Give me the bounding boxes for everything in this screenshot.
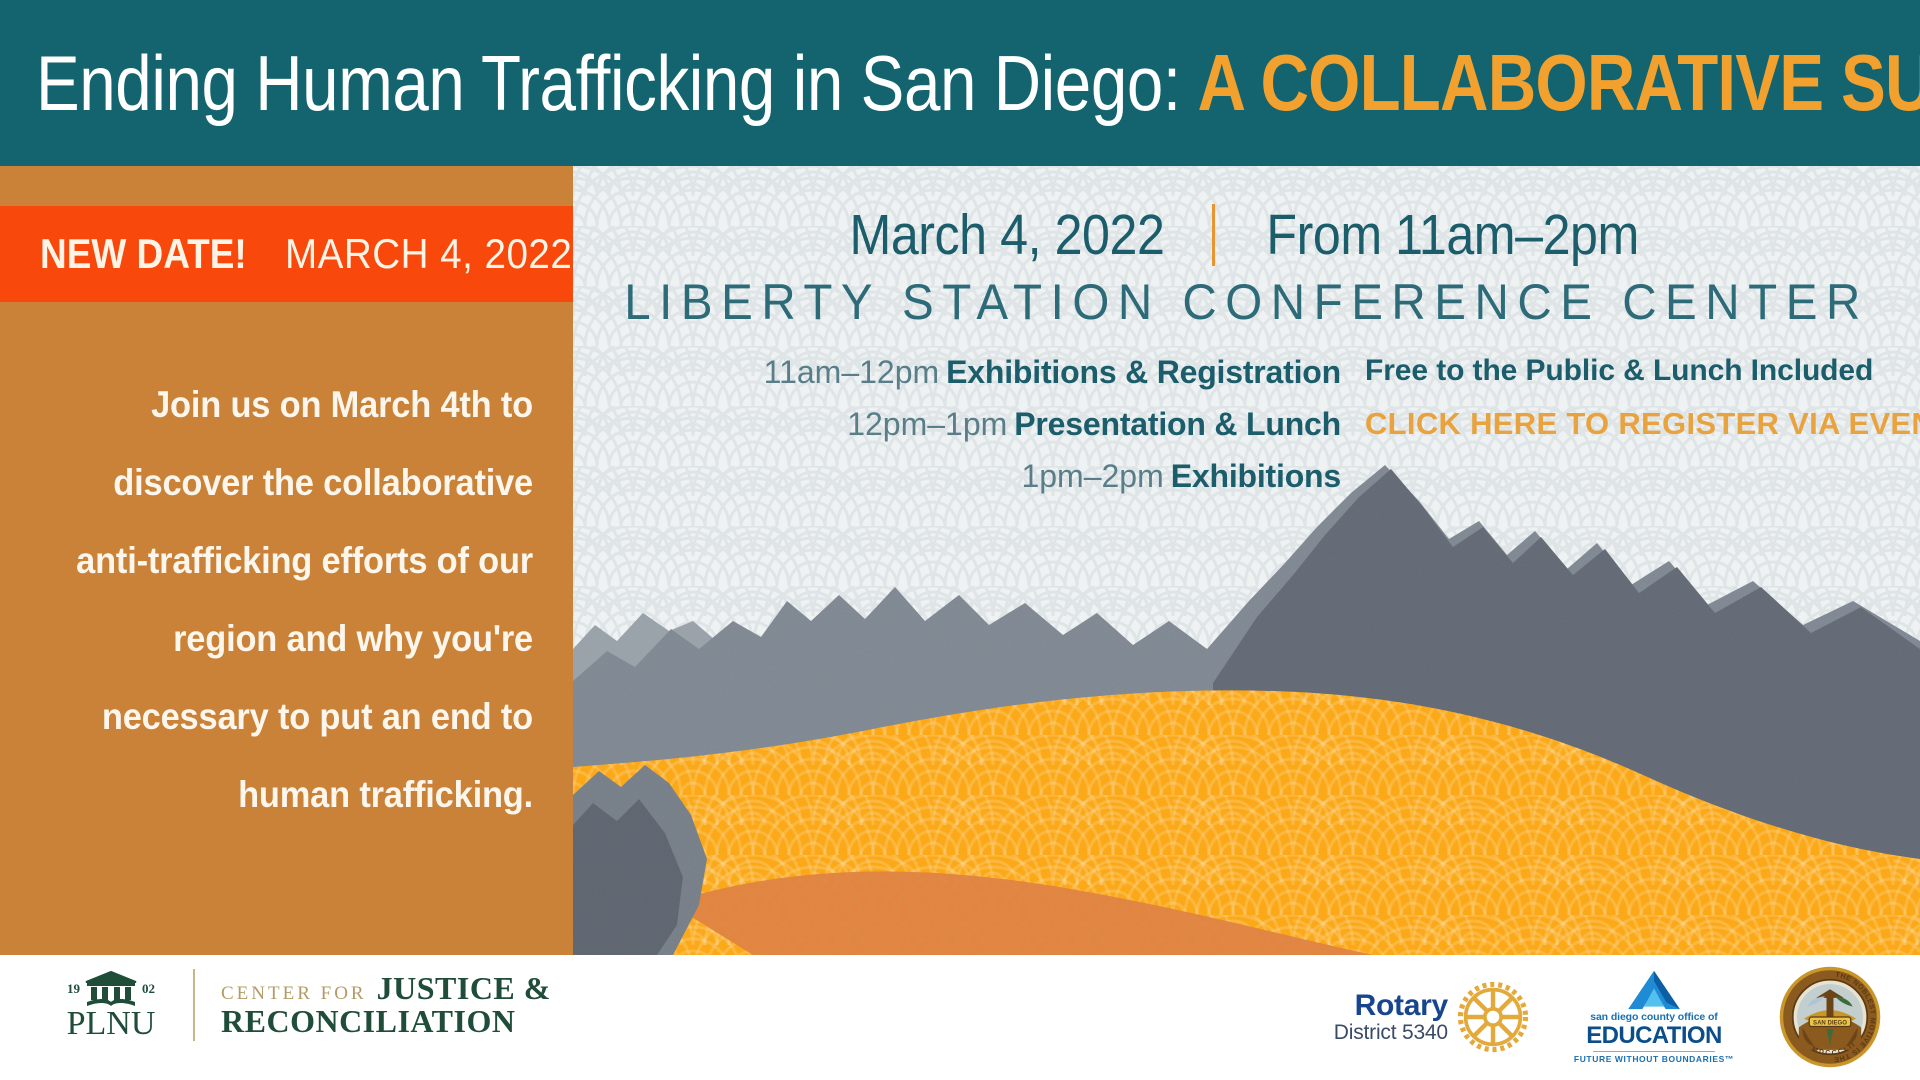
cjr-title-part-2: RECONCILIATION <box>221 1005 551 1038</box>
sponsor-footer: 19 02 PLNU <box>0 955 1920 1080</box>
city-of-san-diego-seal-icon: SAN DIEGO THE NOBLEST MOTIVE IS THE PUBL… <box>1778 965 1882 1069</box>
schedule-label: Presentation & Lunch <box>1014 406 1341 442</box>
page-title: Ending Human Trafficking in San Diego: A… <box>36 43 1920 123</box>
registration-column: Free to the Public & Lunch Included CLIC… <box>1363 356 1920 512</box>
vertical-divider <box>1212 204 1215 266</box>
details-columns: 11am–12pmExhibitions & Registration 12pm… <box>573 356 1920 512</box>
rotary-logo: Rotary District 5340 <box>1334 980 1530 1054</box>
sidebar-line: anti-trafficking efforts of our <box>75 522 533 600</box>
sidebar-line: human trafficking. <box>75 756 533 834</box>
partner-logos: Rotary District 5340 <box>1334 965 1882 1069</box>
schedule-row: 11am–12pmExhibitions & Registration <box>573 356 1341 388</box>
rotary-text: Rotary District 5340 <box>1334 990 1448 1044</box>
cjr-line-1: CENTER FOR JUSTICE & <box>221 972 551 1005</box>
rotary-gear-icon <box>1456 980 1530 1054</box>
classical-building-icon <box>82 969 140 1009</box>
title-primary: Ending Human Trafficking in San Diego: <box>36 44 1181 122</box>
cjr-title-part-1: JUSTICE & <box>377 972 551 1005</box>
schedule-column: 11am–12pmExhibitions & Registration 12pm… <box>573 356 1363 512</box>
schedule-label: Exhibitions <box>1171 458 1341 494</box>
center-for-justice-reconciliation-logo: CENTER FOR JUSTICE & RECONCILIATION <box>221 972 551 1037</box>
sidebar-panel: NEW DATE! MARCH 4, 2022 Join us on March… <box>0 166 573 955</box>
sidebar-line: necessary to put an end to <box>75 678 533 756</box>
new-date-banner: NEW DATE! MARCH 4, 2022 <box>0 206 573 302</box>
mountain-landscape-illustration <box>573 435 1920 955</box>
new-date-label: NEW DATE! <box>40 233 247 275</box>
plnu-founding-years: 19 02 <box>67 969 155 1009</box>
schedule-row: 1pm–2pmExhibitions <box>573 460 1341 492</box>
plnu-logo: 19 02 PLNU <box>55 969 551 1041</box>
new-date-value: MARCH 4, 2022 <box>285 233 572 275</box>
schedule-time: 12pm–1pm <box>847 406 1007 442</box>
event-venue: LIBERTY STATION CONFERENCE CENTER <box>607 275 1887 330</box>
plnu-year-right: 02 <box>142 981 155 997</box>
schedule-label: Exhibitions & Registration <box>946 354 1341 390</box>
schedule-row: 12pm–1pmPresentation & Lunch <box>573 408 1341 440</box>
cjr-prefix: CENTER FOR <box>221 984 367 1003</box>
blue-triangle-icon <box>1627 970 1681 1010</box>
sidebar-line: Join us on March 4th to <box>75 366 533 444</box>
main-panel: March 4, 2022 From 11am–2pm LIBERTY STAT… <box>573 166 1920 955</box>
rotary-name: Rotary <box>1355 990 1448 1022</box>
free-admission-note: Free to the Public & Lunch Included <box>1365 356 1920 386</box>
plnu-wordmark: PLNU <box>67 1007 156 1041</box>
logo-divider <box>193 969 195 1041</box>
event-date: March 4, 2022 <box>850 204 1165 267</box>
event-headline: March 4, 2022 From 11am–2pm LIBERTY STAT… <box>573 204 1920 330</box>
date-time-line: March 4, 2022 From 11am–2pm <box>828 204 1664 267</box>
sidebar-description: Join us on March 4th to discover the col… <box>40 366 533 834</box>
schedule-time: 1pm–2pm <box>1021 458 1163 494</box>
title-accent: A COLLABORATIVE SUMMIT <box>1197 43 1920 123</box>
sdcoe-rule <box>1593 1051 1715 1053</box>
sdcoe-title: EDUCATION <box>1586 1024 1721 1048</box>
sidebar-line: discover the collaborative <box>75 444 533 522</box>
flyer-header: Ending Human Trafficking in San Diego: A… <box>0 0 1920 166</box>
rotary-district: District 5340 <box>1334 1022 1448 1044</box>
sidebar-line: region and why you're <box>75 600 533 678</box>
register-eventbrite-link[interactable]: CLICK HERE TO REGISTER VIA EVENTBRITE <box>1365 408 1920 439</box>
sdcoe-logo: san diego county office of EDUCATION FUT… <box>1574 970 1734 1065</box>
sdcoe-tagline: FUTURE WITHOUT BOUNDARIES™ <box>1574 1054 1734 1064</box>
svg-text:SAN DIEGO: SAN DIEGO <box>1813 1020 1847 1026</box>
event-flyer: Ending Human Trafficking in San Diego: A… <box>0 0 1920 1080</box>
sdcoe-subtitle: san diego county office of <box>1590 1011 1718 1023</box>
event-time-range: From 11am–2pm <box>1267 204 1639 267</box>
schedule-time: 11am–12pm <box>764 354 940 390</box>
plnu-mark: 19 02 PLNU <box>55 969 167 1041</box>
plnu-year-left: 19 <box>67 981 80 997</box>
